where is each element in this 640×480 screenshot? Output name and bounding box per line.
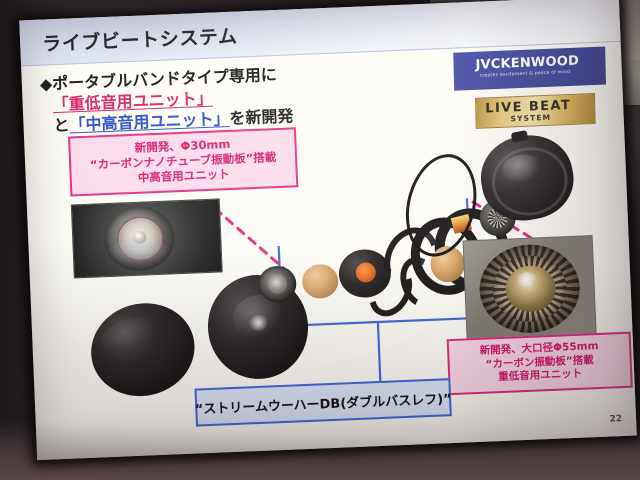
jvckenwood-logo: JVCKENWOOD creates excitement & peace of… [453,46,606,90]
driver-cone [267,274,288,295]
photo-of-projected-slide: ライブビートシステム ◆ポータブルバンドタイプ専用に 「重低音用ユニット」 と「… [0,0,640,480]
slide-canvas: ライブビートシステム ◆ポータブルバンドタイプ専用に 「重低音用ユニット」 と「… [19,0,637,460]
enclosure-rim [486,141,573,222]
enclosure-tab [511,130,529,143]
page-number: 22 [609,414,622,425]
stream-woofer-label: “ストリームウーハーDB(ダブルバスレフ)” [194,388,452,418]
part-outer-housing-cap [81,292,205,407]
headline-conjunction: と [53,116,70,136]
photo-bass-unit [463,235,597,342]
headline-block: ◆ポータブルバンドタイプ専用に 「重低音用ユニット」 と「中高音用ユニット」を新… [39,56,471,137]
badge-line-2: SYSTEM [510,113,551,124]
photo-mid-high-unit [71,198,223,278]
projection-screen: ライブビートシステム ◆ポータブルバンドタイプ専用に 「重低音用ユニット」 と「… [19,0,637,460]
part-damper-disc-1 [301,264,338,299]
page-title: ライブビートシステム [42,22,238,57]
gloss-highlight [98,311,165,359]
stream-woofer-label-box: “ストリームウーハーDB(ダブルバスレフ)” [194,378,451,426]
headline-tail: を新開発 [229,107,294,129]
live-beat-system-badge: LIVE BEAT SYSTEM [475,93,596,129]
callout-mid-high-unit: 新開発、Φ30mm “カーボンナノチューブ振動板”搭載 中高音用ユニット [68,127,298,196]
callout-bass-unit: 新開発、大口径Φ55mm “カーボン振動板”搭載 重低音用ユニット [447,332,633,395]
